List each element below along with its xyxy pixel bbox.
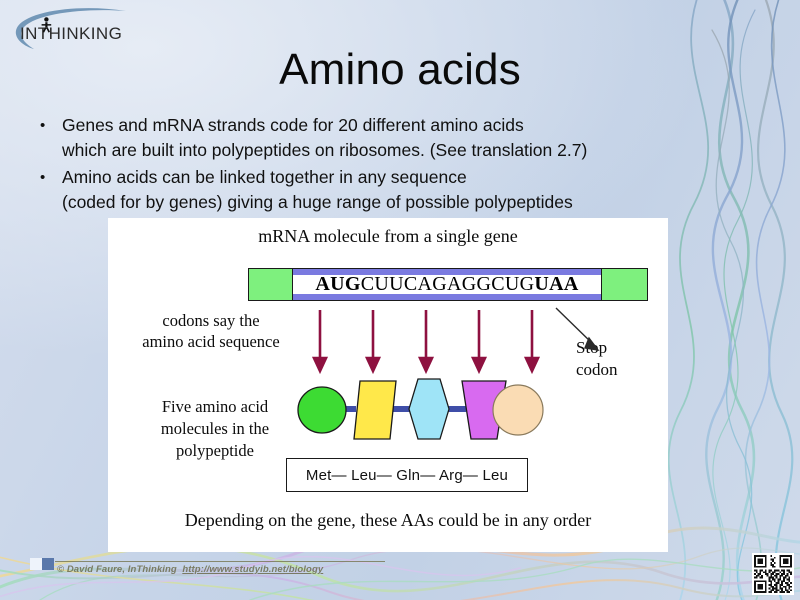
bullet-2-line-2: (coded for by genes) giving a huge range… xyxy=(62,190,573,215)
footer-credit: © David Faure, InThinking http://www.stu… xyxy=(57,564,323,575)
codon-arrow-5 xyxy=(526,310,538,371)
slide-canvas: INTHINKING Amino acids • Genes and mRNA … xyxy=(0,0,800,600)
footer-copyright: © David Faure, InThinking xyxy=(57,564,177,575)
footer-square-light xyxy=(30,558,42,570)
amino-acid-chain xyxy=(294,373,544,443)
slide-title: Amino acids xyxy=(0,44,800,96)
bullet-1-line-2: which are built into polypeptides on rib… xyxy=(62,138,587,163)
diagram-caption: Depending on the gene, these AAs could b… xyxy=(108,510,668,531)
footer-url[interactable]: http://www.studyib.net/biology xyxy=(182,564,323,575)
amino-acid-shape-leu-1 xyxy=(354,381,396,439)
codon-arrow-3 xyxy=(420,310,432,371)
amino-acid-shape-leu-2 xyxy=(493,385,543,435)
qr-code-icon[interactable] xyxy=(752,553,794,595)
stop-codon-pointer-arrow xyxy=(556,308,598,350)
diagram-panel: mRNA molecule from a single gene AUGCUUC… xyxy=(108,218,668,552)
codon-arrow-4 xyxy=(473,310,485,371)
bullet-item-1: • Genes and mRNA strands code for 20 dif… xyxy=(40,113,720,163)
footer-divider xyxy=(55,561,385,562)
amino-acid-shape-gln xyxy=(409,379,449,439)
bullet-list: • Genes and mRNA strands code for 20 dif… xyxy=(40,113,720,217)
bullet-text-1: Genes and mRNA strands code for 20 diffe… xyxy=(62,113,587,163)
amino-acid-shape-met xyxy=(298,387,346,433)
codon-arrow-1 xyxy=(314,310,326,371)
peptide-sequence-box: Met— Leu— Gln— Arg— Leu xyxy=(286,458,528,492)
bullet-item-2: • Amino acids can be linked together in … xyxy=(40,165,720,215)
bullet-text-2: Amino acids can be linked together in an… xyxy=(62,165,573,215)
bullet-marker: • xyxy=(40,113,62,138)
footer-square-blue xyxy=(42,558,54,570)
bullet-marker: • xyxy=(40,165,62,190)
codon-arrow-2 xyxy=(367,310,379,371)
logo-text: INTHINKING xyxy=(20,24,122,43)
bullet-2-line-1: Amino acids can be linked together in an… xyxy=(62,167,467,187)
bullet-1-line-1: Genes and mRNA strands code for 20 diffe… xyxy=(62,115,524,135)
